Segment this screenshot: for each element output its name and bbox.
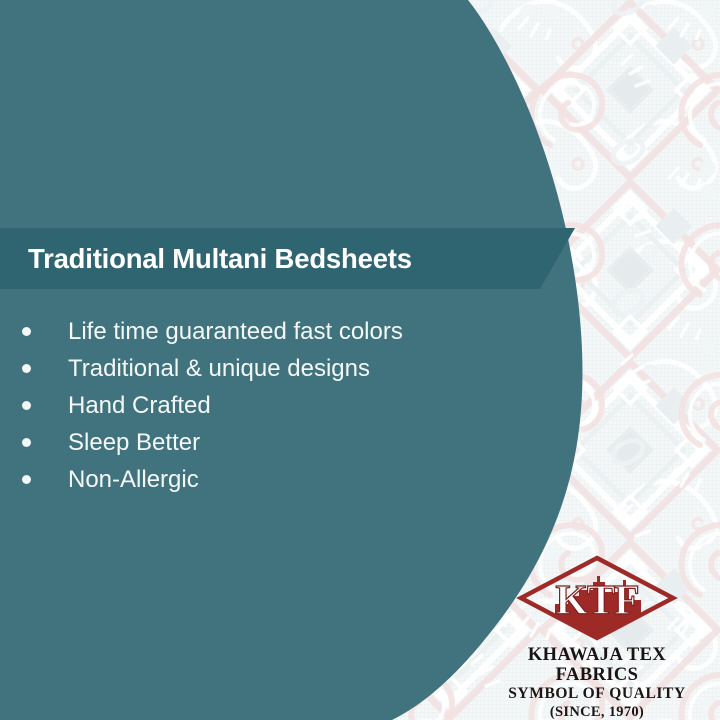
bullet-icon <box>22 327 31 336</box>
page-title: Traditional Multani Bedsheets <box>28 228 412 289</box>
feature-label: Sleep Better <box>68 429 200 456</box>
bullet-icon <box>22 438 31 447</box>
bullet-icon <box>22 401 31 410</box>
list-item: Non-Allergic <box>0 461 520 498</box>
feature-list: Life time guaranteed fast colors Traditi… <box>0 313 520 498</box>
list-item: Sleep Better <box>0 424 520 461</box>
list-item: Life time guaranteed fast colors <box>0 313 520 350</box>
feature-label: Hand Crafted <box>68 392 211 419</box>
list-item: Traditional & unique designs <box>0 350 520 387</box>
brand-logo: KTF KHAWAJA TEX FABRICS SYMBOL OF QUALIT… <box>497 552 697 720</box>
feature-label: Life time guaranteed fast colors <box>68 318 403 345</box>
feature-label: Traditional & unique designs <box>68 355 370 382</box>
list-item: Hand Crafted <box>0 387 520 424</box>
bullet-icon <box>22 475 31 484</box>
logo-tagline: SYMBOL OF QUALITY <box>497 685 697 703</box>
feature-label: Non-Allergic <box>68 466 199 493</box>
poster-content: Traditional Multani Bedsheets Life time … <box>0 0 720 720</box>
bullet-icon <box>22 364 31 373</box>
ktf-diamond-icon: KTF <box>497 552 697 644</box>
title-band: Traditional Multani Bedsheets <box>0 228 575 289</box>
logo-company-name: KHAWAJA TEX FABRICS <box>497 645 697 685</box>
logo-since: (SINCE, 1970) <box>497 703 697 720</box>
ktf-monogram-text: KTF <box>555 578 638 624</box>
poster-canvas: Traditional Multani Bedsheets Life time … <box>0 0 720 720</box>
